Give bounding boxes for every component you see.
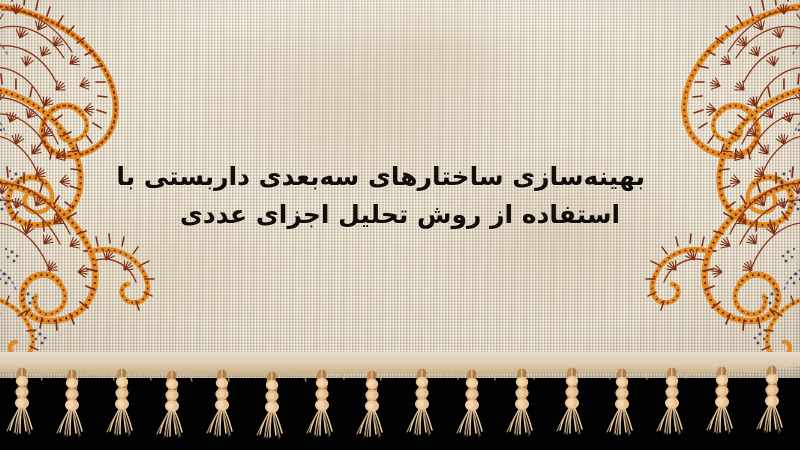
title-slide: بهینه‌سازی ساختارهای سه‌بعدی داربستی با …: [0, 0, 800, 450]
title-line-1: بهینه‌سازی ساختارهای سه‌بعدی داربستی با: [155, 158, 645, 196]
knotted-tassel-fringe: [0, 352, 800, 450]
title-line-2: استفاده از روش تحلیل اجزای عددی: [155, 196, 645, 234]
slide-title: بهینه‌سازی ساختارهای سه‌بعدی داربستی با …: [155, 158, 645, 234]
